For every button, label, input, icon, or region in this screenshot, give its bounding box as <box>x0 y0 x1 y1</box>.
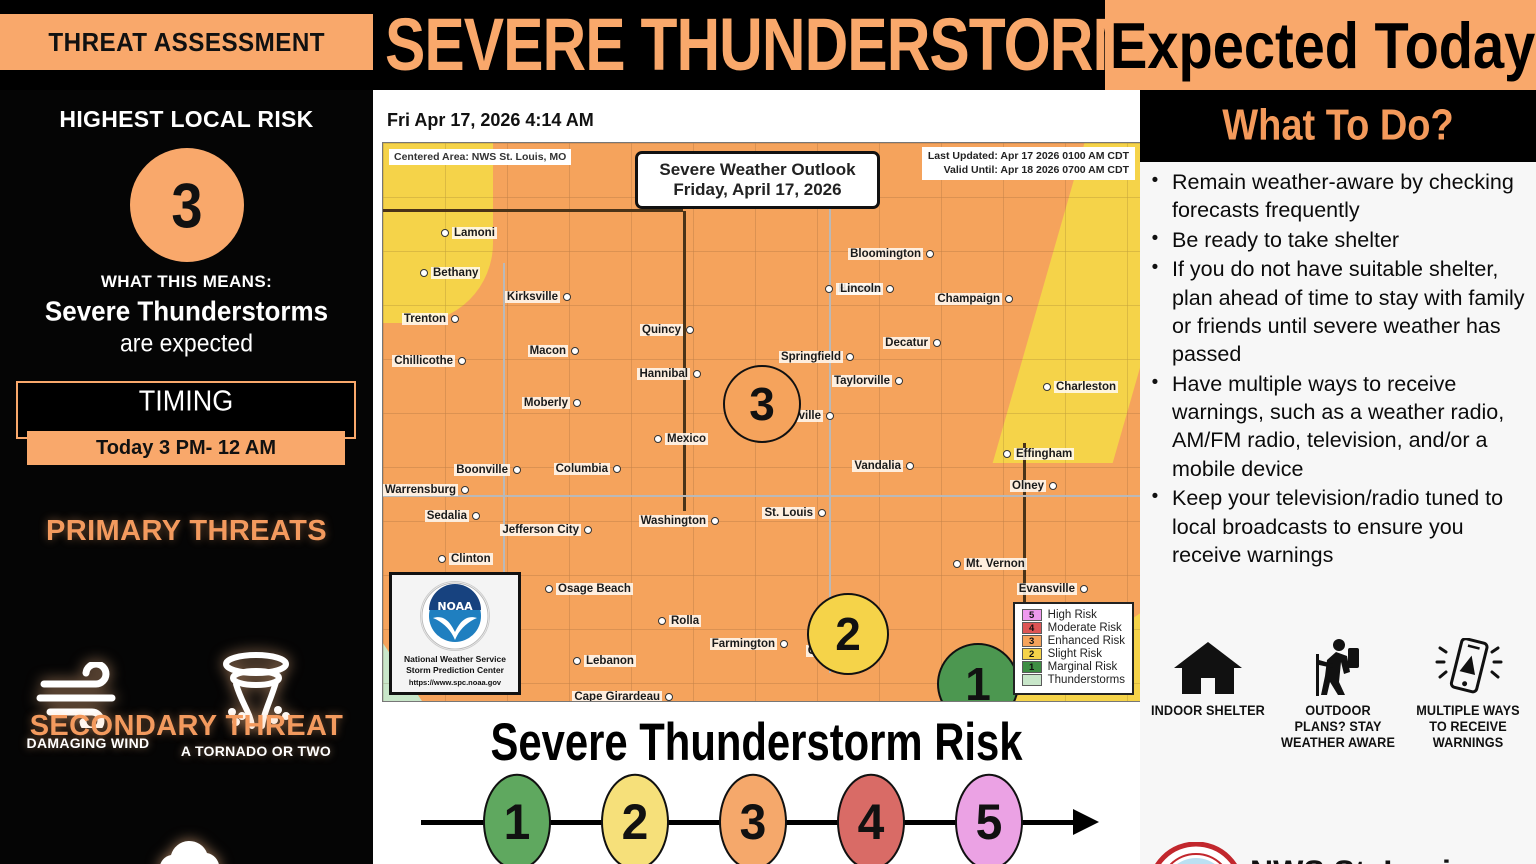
city-dot-icon <box>545 585 553 593</box>
headline-tail: Expected Today <box>1110 7 1535 82</box>
map-city-label: Kirksville <box>505 291 571 303</box>
city-dot-icon <box>953 560 961 568</box>
city-dot-icon <box>906 462 914 470</box>
city-name: Lebanon <box>584 655 636 667</box>
city-name: Cape Girardeau <box>572 691 662 702</box>
map-panel: Fri Apr 17, 2026 4:14 AM Centered Area: … <box>373 90 1140 710</box>
headline-emphasis-wrap: SEVERE THUNDERSTORMS <box>385 3 1095 87</box>
city-dot-icon <box>926 250 934 258</box>
legend-row: Thunderstorms <box>1022 674 1125 686</box>
map-city-label: Boonville <box>454 464 521 476</box>
city-dot-icon <box>665 693 673 701</box>
city-name: Rolla <box>669 615 701 627</box>
map-city-label: Columbia <box>554 463 621 475</box>
city-name: Bloomington <box>848 248 923 260</box>
mississippi-river-line <box>683 211 686 511</box>
timing-title: TIMING <box>16 385 356 418</box>
risk-scale-step: 2 <box>601 774 669 864</box>
city-dot-icon <box>573 399 581 407</box>
risk-scale-step: 3 <box>719 774 787 864</box>
city-dot-icon <box>458 357 466 365</box>
outlook-title-line-2: Friday, April 17, 2026 <box>646 180 869 200</box>
what-to-do-text: Keep your television/radio tuned to loca… <box>1172 484 1534 569</box>
map-timestamp: Fri Apr 17, 2026 4:14 AM <box>387 110 594 131</box>
city-name: Mexico <box>665 433 708 445</box>
city-dot-icon <box>513 466 521 474</box>
map-city-label: Bloomington <box>848 248 934 260</box>
valid-until-text: Valid Until: Apr 18 2026 0700 AM CDT <box>928 164 1129 178</box>
top-banner: THREAT ASSESSMENT SEVERE THUNDERSTORMS E… <box>0 0 1536 90</box>
city-dot-icon <box>846 353 854 361</box>
phone-alert-icon <box>1406 638 1530 701</box>
centered-area-label: Centered Area: NWS St. Louis, MO <box>389 149 571 165</box>
preparedness-indoor-shelter: INDOOR SHELTER <box>1146 638 1270 751</box>
threat-large-hail: LARGE HAIL <box>116 838 266 864</box>
city-dot-icon <box>711 517 719 525</box>
risk-scale-step: 5 <box>955 774 1023 864</box>
what-to-do-item: •Keep your television/radio tuned to loc… <box>1148 484 1534 569</box>
what-this-means-label: WHAT THIS MEANS: <box>0 272 373 292</box>
city-name: Sedalia <box>425 510 469 522</box>
infographic-root: THREAT ASSESSMENT SEVERE THUNDERSTORMS E… <box>0 0 1536 864</box>
meaning-line-2: are expected <box>0 329 373 358</box>
city-dot-icon <box>825 285 833 293</box>
what-to-do-item: •If you do not have suitable shelter, pl… <box>1148 255 1534 369</box>
svg-text:NOAA: NOAA <box>437 600 473 613</box>
headline-tail-wrap: Expected Today <box>1110 3 1530 87</box>
legend-label: Marginal Risk <box>1048 661 1118 673</box>
map-city-label: Osage Beach <box>545 583 633 595</box>
city-dot-icon <box>461 486 469 494</box>
city-dot-icon <box>438 555 446 563</box>
map-city-label: Farmington <box>710 638 788 650</box>
legend-swatch: 4 <box>1022 622 1042 634</box>
city-name: Chillicothe <box>392 355 455 367</box>
gateway-arch-icon <box>1406 840 1526 864</box>
city-dot-icon <box>584 526 592 534</box>
risk-scale-step: 1 <box>483 774 551 864</box>
noaa-line-2: Storm Prediction Center <box>396 665 514 676</box>
city-name: Moberly <box>522 397 570 409</box>
bullet-icon: • <box>1148 226 1162 254</box>
what-to-do-text: Have multiple ways to receive warnings, … <box>1172 370 1534 484</box>
city-name: Trenton <box>402 313 448 325</box>
nws-branding-row: NWS St. Louis weather.gov/lsx <box>1148 838 1528 864</box>
threat-assessment-chip: THREAT ASSESSMENT <box>0 14 373 70</box>
primary-threats-heading: PRIMARY THREATS <box>0 515 373 548</box>
map-city-label: Charleston <box>1043 381 1118 393</box>
preparedness-multiple-ways: MULTIPLE WAYS TO RECEIVE WARNINGS <box>1406 638 1530 751</box>
preparedness-icon-row: INDOOR SHELTER OUTDOOR PLANS? STAY WEATH… <box>1146 638 1530 751</box>
legend-row: 1Marginal Risk <box>1022 661 1125 673</box>
highest-risk-value: 3 <box>171 169 202 242</box>
highest-local-risk-label: HIGHEST LOCAL RISK <box>0 106 373 133</box>
map-risk-marker: 3 <box>723 365 801 443</box>
map-city-label: St. Louis <box>762 507 826 519</box>
city-name: Decatur <box>883 337 930 349</box>
map-city-label: Springfield <box>779 351 854 363</box>
map-city-label: Warrensburg <box>383 484 469 496</box>
timing-value: Today 3 PM- 12 AM <box>27 431 345 465</box>
map-city-label: Evansville <box>1017 583 1088 595</box>
city-name: Osage Beach <box>556 583 633 595</box>
city-dot-icon <box>686 326 694 334</box>
risk-scale-step: 4 <box>837 774 905 864</box>
city-dot-icon <box>563 293 571 301</box>
city-dot-icon <box>658 617 666 625</box>
state-border-line <box>383 209 683 212</box>
city-name: Springfield <box>779 351 843 363</box>
map-city-label: Clinton <box>438 553 493 565</box>
city-name: Champaign <box>935 293 1002 305</box>
city-name: Bethany <box>431 267 480 279</box>
noaa-logo-icon: NOAA <box>420 581 490 651</box>
map-city-label: Trenton <box>402 313 459 325</box>
map-risk-marker: 2 <box>807 593 889 675</box>
what-to-do-item: •Have multiple ways to receive warnings,… <box>1148 370 1534 484</box>
map-city-label: Decatur <box>883 337 941 349</box>
what-to-do-text: If you do not have suitable shelter, pla… <box>1172 255 1534 369</box>
secondary-threat-heading: SECONDARY THREAT <box>0 710 373 743</box>
legend-label: Slight Risk <box>1048 648 1102 660</box>
city-name: Kirksville <box>505 291 560 303</box>
city-name: Vandalia <box>852 460 903 472</box>
legend-swatch <box>1022 674 1042 686</box>
map-city-label: Mexico <box>654 433 708 445</box>
bullet-icon: • <box>1148 255 1162 369</box>
map-legend: 5High Risk4Moderate Risk3Enhanced Risk2S… <box>1013 602 1134 695</box>
interstate-line-1 <box>383 495 1141 497</box>
meaning-line-1: Severe Thunderstorms <box>0 295 373 328</box>
risk-scale-panel: Severe Thunderstorm Risk 12345 <box>373 710 1140 864</box>
map-city-label: Mt. Vernon <box>953 558 1027 570</box>
what-to-do-item: •Be ready to take shelter <box>1148 226 1534 254</box>
map-city-label: Vandalia <box>852 460 914 472</box>
headline-emphasis: SEVERE THUNDERSTORMS <box>385 3 1181 88</box>
city-dot-icon <box>895 377 903 385</box>
legend-swatch: 2 <box>1022 648 1042 660</box>
legend-label: Enhanced Risk <box>1048 635 1125 647</box>
what-to-do-panel: What To Do? •Remain weather-aware by che… <box>1140 90 1536 864</box>
city-name: Clinton <box>449 553 493 565</box>
preparedness-outdoor-plans: OUTDOOR PLANS? STAY WEATHER AWARE <box>1276 638 1400 751</box>
city-name: Columbia <box>554 463 610 475</box>
map-update-info: Last Updated: Apr 17 2026 0100 AM CDT Va… <box>922 147 1135 180</box>
hiker-icon <box>1276 638 1400 701</box>
city-dot-icon <box>571 347 579 355</box>
outlook-title-box: Severe Weather Outlook Friday, April 17,… <box>635 151 880 209</box>
noaa-url: https://www.spc.noaa.gov <box>396 678 514 687</box>
city-dot-icon <box>472 512 480 520</box>
legend-swatch: 1 <box>1022 661 1042 673</box>
city-name: Hannibal <box>637 368 690 380</box>
city-dot-icon <box>1003 450 1011 458</box>
icon-caption: OUTDOOR PLANS? STAY WEATHER AWARE <box>1280 703 1397 751</box>
city-name: Effingham <box>1014 448 1074 460</box>
city-name: Washington <box>639 515 708 527</box>
city-dot-icon <box>780 640 788 648</box>
city-dot-icon <box>1005 295 1013 303</box>
map-city-label: Jefferson City <box>500 524 592 536</box>
city-name: Quincy <box>640 324 683 336</box>
city-name: Lincoln <box>838 283 883 295</box>
city-name: Warrensburg <box>383 484 458 496</box>
city-name: Taylorville <box>832 375 892 387</box>
map-city-label: Sedalia <box>425 510 480 522</box>
city-name: Jefferson City <box>500 524 581 536</box>
what-to-do-item: •Remain weather-aware by checking foreca… <box>1148 168 1534 225</box>
threat-sidebar: HIGHEST LOCAL RISK 3 WHAT THIS MEANS: Se… <box>0 90 373 864</box>
what-to-do-list: •Remain weather-aware by checking foreca… <box>1148 168 1534 570</box>
legend-swatch: 5 <box>1022 609 1042 621</box>
map-city-label: Quincy <box>640 324 694 336</box>
city-dot-icon <box>693 370 701 378</box>
map-city-label: Washington <box>639 515 719 527</box>
city-dot-icon <box>1043 383 1051 391</box>
map-city-label: Champaign <box>935 293 1013 305</box>
severe-weather-outlook-map[interactable]: Centered Area: NWS St. Louis, MO Last Up… <box>382 142 1141 702</box>
what-to-do-text: Be ready to take shelter <box>1172 226 1399 254</box>
legend-row: 2Slight Risk <box>1022 648 1125 660</box>
noaa-line-1: National Weather Service <box>396 654 514 665</box>
legend-label: Moderate Risk <box>1048 622 1122 634</box>
city-name: St. Louis <box>762 507 815 519</box>
city-dot-icon <box>933 339 941 347</box>
city-name: Olney <box>1010 480 1046 492</box>
threat-assessment-label: THREAT ASSESSMENT <box>48 27 325 58</box>
icon-caption: MULTIPLE WAYS TO RECEIVE WARNINGS <box>1410 703 1527 751</box>
map-city-label: Lincoln <box>838 283 894 295</box>
risk-scale-arrow-icon <box>1073 809 1099 835</box>
city-dot-icon <box>826 412 834 420</box>
city-name: Evansville <box>1017 583 1077 595</box>
map-city-label: Rolla <box>658 615 701 627</box>
legend-row: 3Enhanced Risk <box>1022 635 1125 647</box>
bullet-icon: • <box>1148 484 1162 569</box>
nws-logo-icon <box>1148 842 1244 864</box>
map-city-label: Cape Girardeau <box>572 691 673 702</box>
map-city-label: Lebanon <box>573 655 636 667</box>
legend-row: 5High Risk <box>1022 609 1125 621</box>
threat-caption: A TORNADO OR TWO <box>176 743 336 759</box>
bullet-icon: • <box>1148 370 1162 484</box>
map-city-label: Olney <box>1010 480 1057 492</box>
city-name: Mt. Vernon <box>964 558 1027 570</box>
city-dot-icon <box>420 269 428 277</box>
last-updated-text: Last Updated: Apr 17 2026 0100 AM CDT <box>928 150 1129 164</box>
house-icon <box>1146 638 1270 701</box>
map-city-label: Hannibal <box>637 368 701 380</box>
city-dot-icon <box>886 285 894 293</box>
legend-swatch: 3 <box>1022 635 1042 647</box>
city-dot-icon <box>573 657 581 665</box>
city-name: Charleston <box>1054 381 1118 393</box>
icon-caption: INDOOR SHELTER <box>1150 703 1267 719</box>
bullet-icon: • <box>1148 168 1162 225</box>
city-dot-icon <box>613 465 621 473</box>
city-dot-icon <box>1080 585 1088 593</box>
hail-cloud-icon <box>116 838 266 864</box>
city-dot-icon <box>654 435 662 443</box>
city-dot-icon <box>451 315 459 323</box>
city-name: Boonville <box>454 464 510 476</box>
map-city-label: Chillicothe <box>392 355 466 367</box>
city-dot-icon <box>441 229 449 237</box>
map-city-label: Moberly <box>522 397 581 409</box>
highest-risk-badge: 3 <box>130 148 244 262</box>
city-dot-icon <box>818 509 826 517</box>
map-city-label: Effingham <box>1003 448 1074 460</box>
city-dot-icon <box>1049 482 1057 490</box>
what-to-do-text: Remain weather-aware by checking forecas… <box>1172 168 1534 225</box>
city-name: Farmington <box>710 638 777 650</box>
what-to-do-heading: What To Do? <box>1222 101 1453 150</box>
what-to-do-header: What To Do? <box>1140 90 1536 162</box>
legend-label: High Risk <box>1048 609 1097 621</box>
map-city-label: Bethany <box>420 267 480 279</box>
risk-scale-title: Severe Thunderstorm Risk <box>392 713 1121 773</box>
map-city-label: Lamoni <box>441 227 497 239</box>
map-city-label: Taylorville <box>832 375 903 387</box>
legend-label: Thunderstorms <box>1048 674 1125 686</box>
city-name: Lamoni <box>452 227 497 239</box>
map-city-label: Macon <box>528 345 579 357</box>
outlook-title-line-1: Severe Weather Outlook <box>646 160 869 180</box>
noaa-credit-box: NOAA National Weather Service Storm Pred… <box>389 572 521 695</box>
legend-row: 4Moderate Risk <box>1022 622 1125 634</box>
city-name: Macon <box>528 345 568 357</box>
